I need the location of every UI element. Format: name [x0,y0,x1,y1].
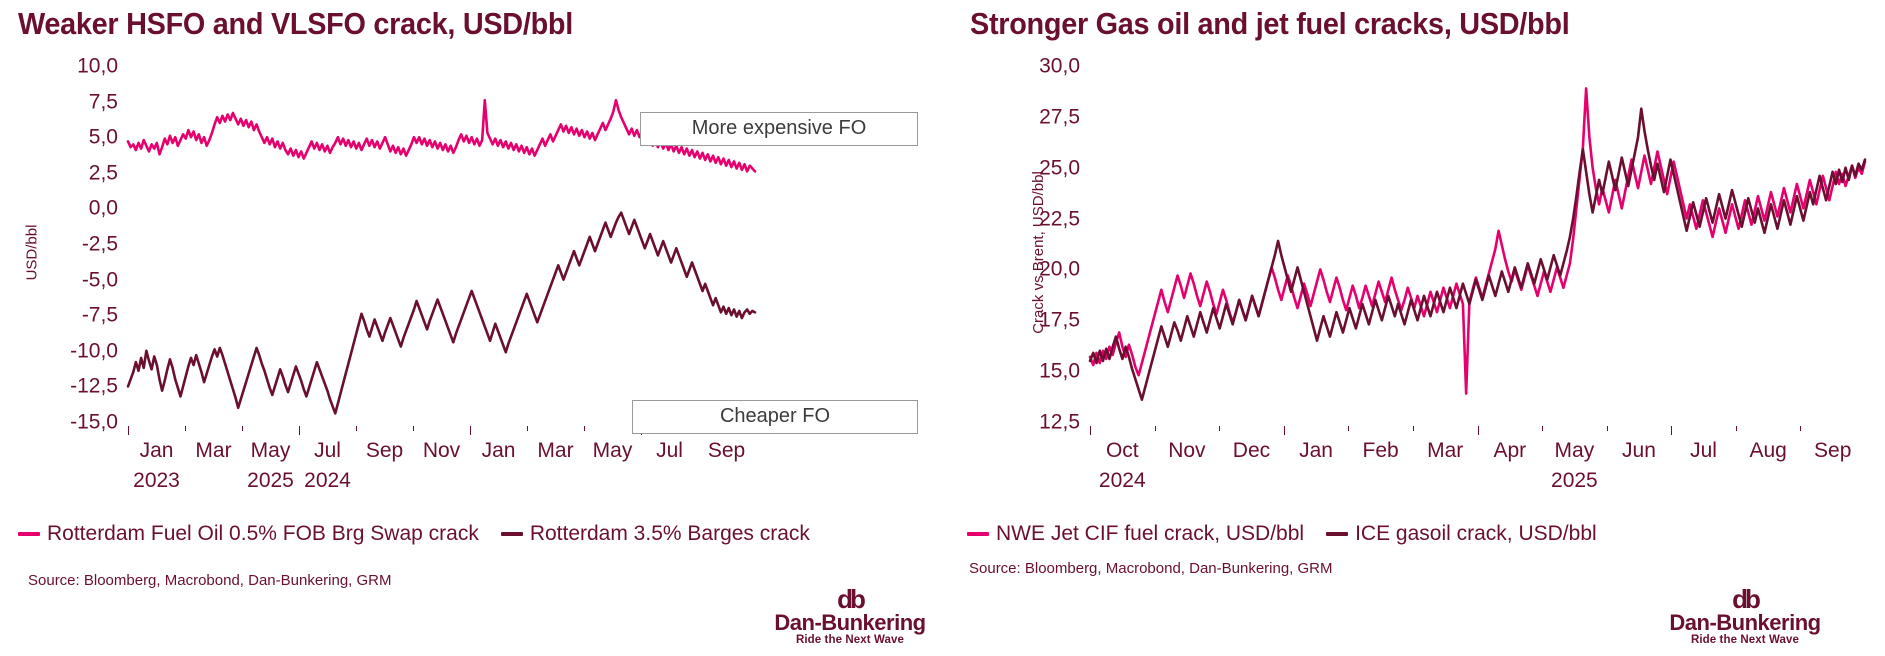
y-axis-tick-label: -10,0 [70,340,118,361]
y-axis-tick-label: -5,0 [82,269,118,290]
left-legend: Rotterdam Fuel Oil 0.5% FOB Brg Swap cra… [18,523,810,544]
db-monogram-icon: db [1645,588,1845,611]
legend-label: Rotterdam 3.5% Barges crack [530,523,810,544]
x-axis-tick-label: Jun [1622,440,1656,461]
y-axis-title: Crack vs Brent, USD/bbl [1030,171,1047,334]
x-axis-tick-mark [356,426,357,431]
y-axis-tick-label: 2,5 [89,162,118,183]
legend-color-swatch [1326,532,1348,536]
y-axis-tick-label: 12,5 [1039,412,1080,433]
x-axis-tick-label: Aug [1749,440,1786,461]
x-axis-tick-label: Oct [1106,440,1139,461]
legend-item[interactable]: Rotterdam 3.5% Barges crack [501,523,810,544]
x-axis-tick-mark [185,426,186,431]
x-axis-year-label: 2025 [1551,470,1598,491]
logo-wordmark: Dan-Bunkering [1645,611,1845,634]
x-axis-tick-mark [527,426,528,431]
db-monogram-icon: db [750,588,950,611]
x-axis-tick-label: Jan [482,440,516,461]
x-axis-tick-label: May [251,440,291,461]
series-line-1 [1090,88,1865,393]
x-axis-year-label: 2025 [247,470,294,491]
x-axis-tick-label: Nov [1168,440,1205,461]
x-axis-tick-mark [299,426,300,435]
x-axis-tick-label: Sep [708,440,745,461]
y-axis-tick-label: -7,5 [82,305,118,326]
x-axis-tick-label: Mar [537,440,573,461]
y-axis-tick-label: 27,5 [1039,106,1080,127]
x-axis-tick-mark [584,426,585,431]
x-axis-tick-mark [128,426,129,435]
series-line-2 [128,213,755,414]
logo-wordmark: Dan-Bunkering [750,611,950,634]
x-axis-tick-mark [470,426,471,435]
x-axis-tick-label: Mar [1427,440,1463,461]
x-axis-tick-mark [1348,426,1349,431]
legend-label: NWE Jet CIF fuel crack, USD/bbl [996,523,1304,544]
y-axis-tick-label: 5,0 [89,127,118,148]
callout-more-expensive-fo: More expensive FO [640,112,918,146]
right-legend: NWE Jet CIF fuel crack, USD/bblICE gasoi… [967,523,1597,544]
x-axis-tick-label: Sep [366,440,403,461]
x-axis-tick-label: Feb [1363,440,1399,461]
x-axis-tick-label: Jan [140,440,174,461]
legend-label: ICE gasoil crack, USD/bbl [1355,523,1597,544]
x-axis-tick-mark [1478,426,1479,435]
logo-tagline: Ride the Next Wave [750,634,950,648]
y-axis-title: USD/bbl [23,225,40,281]
x-axis-tick-label: Jul [1690,440,1717,461]
x-axis-year-label: 2024 [304,470,351,491]
x-axis-tick-label: May [1555,440,1595,461]
left-chart-panel: Weaker HSFO and VLSFO crack, USD/bbl 10,… [0,0,945,656]
legend-color-swatch [967,532,989,536]
y-axis-tick-label: 0,0 [89,198,118,219]
x-axis-tick-mark [1219,426,1220,431]
y-axis-tick-label: 15,0 [1039,361,1080,382]
legend-item[interactable]: Rotterdam Fuel Oil 0.5% FOB Brg Swap cra… [18,523,479,544]
left-logo: db Dan-Bunkering Ride the Next Wave [750,588,950,648]
x-axis-tick-label: Jul [314,440,341,461]
x-axis-tick-label: Nov [423,440,460,461]
x-axis-tick-label: Mar [195,440,231,461]
x-axis-tick-label: Sep [1814,440,1851,461]
x-axis-year-label: 2024 [1099,470,1146,491]
x-axis-tick-mark [1542,426,1543,431]
x-axis-tick-label: May [593,440,633,461]
right-chart-svg [945,52,1885,452]
legend-label: Rotterdam Fuel Oil 0.5% FOB Brg Swap cra… [47,523,479,544]
x-axis-tick-mark [1607,426,1608,431]
series-line-2 [1090,109,1865,400]
y-axis-tick-label: 10,0 [77,56,118,77]
x-axis-tick-mark [1671,426,1672,435]
x-axis-tick-mark [1090,426,1091,435]
x-axis-tick-mark [242,426,243,431]
legend-item[interactable]: ICE gasoil crack, USD/bbl [1326,523,1597,544]
x-axis-tick-mark [1800,426,1801,431]
right-logo: db Dan-Bunkering Ride the Next Wave [1645,588,1845,648]
slide-canvas: Weaker HSFO and VLSFO crack, USD/bbl 10,… [0,0,1885,656]
x-axis-tick-label: Apr [1493,440,1526,461]
logo-tagline: Ride the Next Wave [1645,634,1845,648]
y-axis-tick-label: -15,0 [70,412,118,433]
right-source-note: Source: Bloomberg, Macrobond, Dan-Bunker… [969,560,1333,577]
x-axis-tick-label: Jul [656,440,683,461]
y-axis-tick-label: 30,0 [1039,56,1080,77]
x-axis-tick-label: Dec [1233,440,1270,461]
y-axis-tick-label: -2,5 [82,234,118,255]
right-plot-area: 30,027,525,022,520,017,515,012,5Crack vs… [945,52,1885,452]
legend-color-swatch [18,532,40,536]
left-chart-title: Weaker HSFO and VLSFO crack, USD/bbl [18,6,573,42]
x-axis-tick-label: Jan [1299,440,1333,461]
left-source-note: Source: Bloomberg, Macrobond, Dan-Bunker… [28,572,392,589]
legend-color-swatch [501,532,523,536]
callout-cheaper-fo: Cheaper FO [632,400,918,434]
y-axis-tick-label: 7,5 [89,91,118,112]
right-chart-panel: Stronger Gas oil and jet fuel cracks, US… [945,0,1885,656]
legend-item[interactable]: NWE Jet CIF fuel crack, USD/bbl [967,523,1304,544]
x-axis-tick-mark [413,426,414,431]
x-axis-tick-mark [1284,426,1285,435]
x-axis-tick-mark [1736,426,1737,431]
x-axis-tick-mark [1155,426,1156,431]
x-axis-year-label: 2023 [133,470,180,491]
x-axis-tick-mark [1413,426,1414,431]
y-axis-tick-label: -12,5 [70,376,118,397]
right-chart-title: Stronger Gas oil and jet fuel cracks, US… [970,6,1569,42]
